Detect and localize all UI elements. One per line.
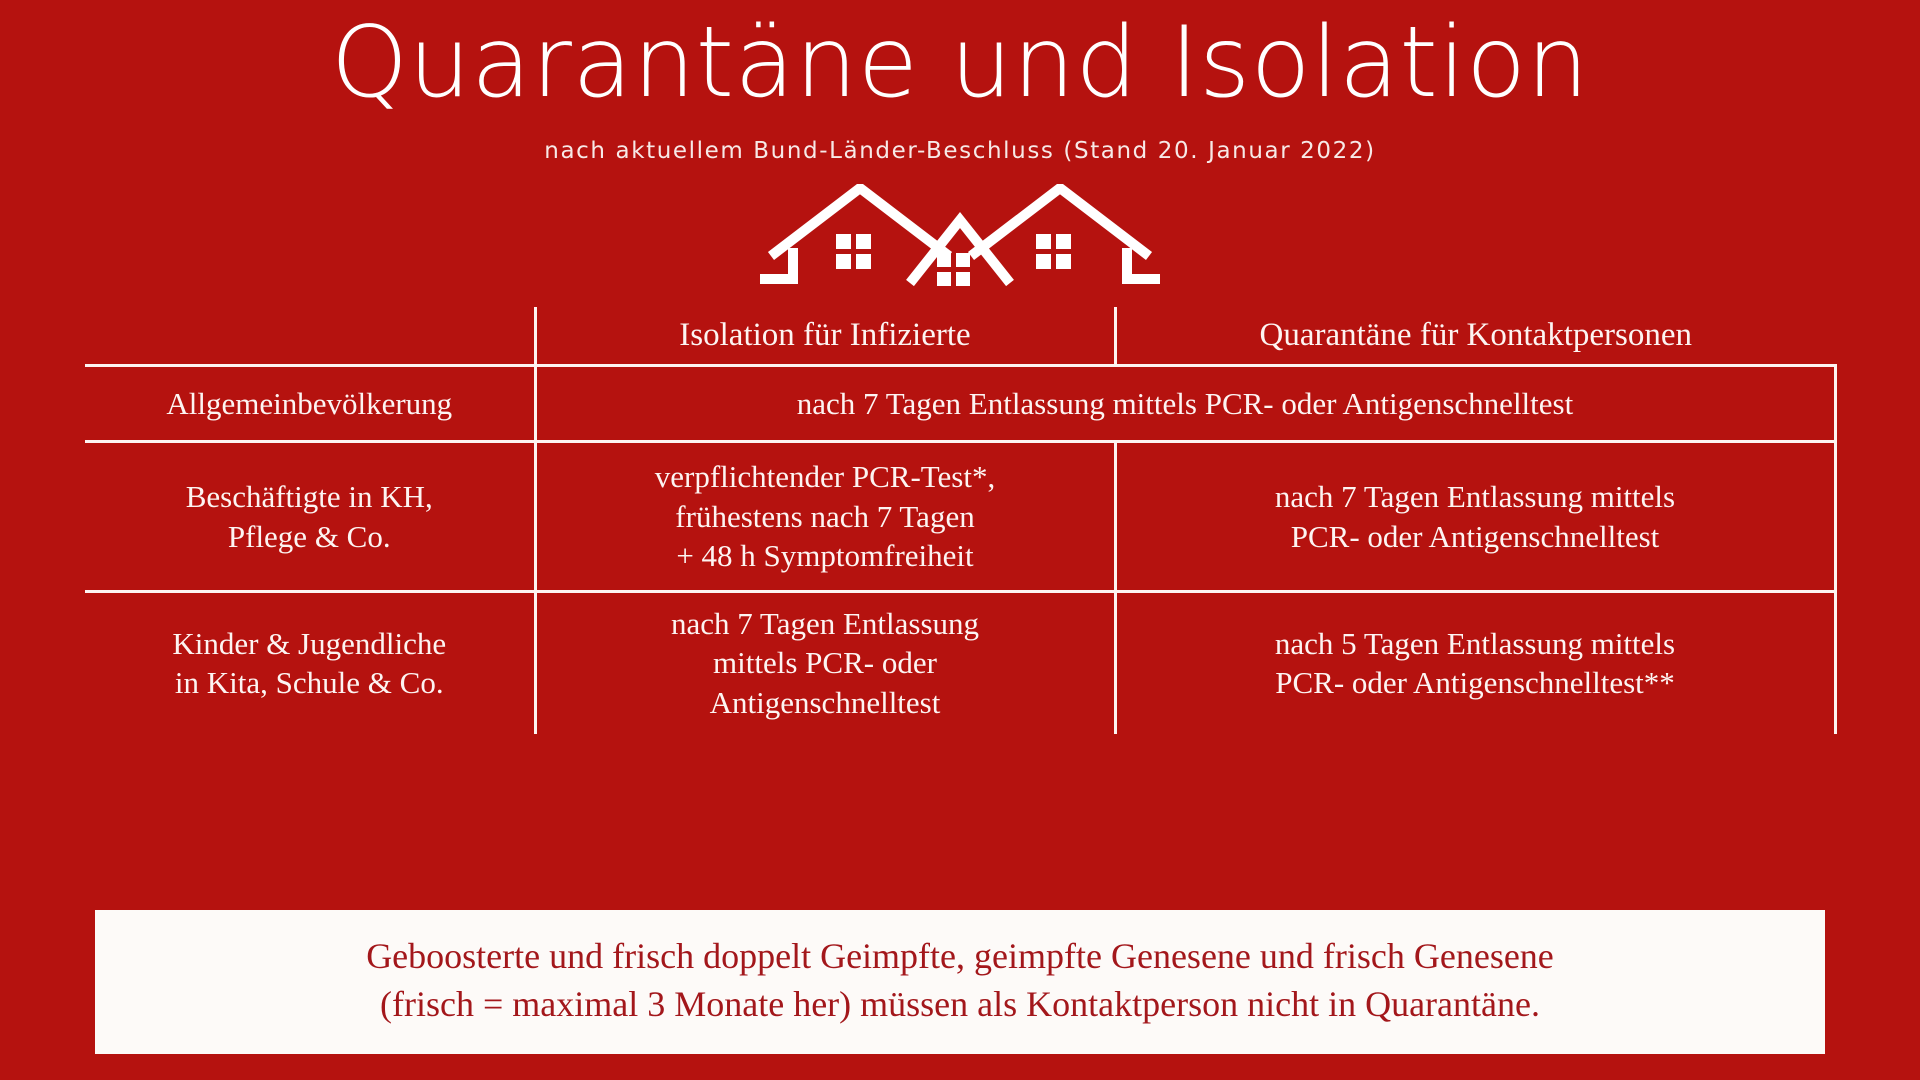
table-row: Allgemeinbevölkerung nach 7 Tagen Entlas…	[85, 366, 1835, 442]
banner-line: Geboosterte und frisch doppelt Geimpfte,…	[125, 932, 1795, 980]
infographic-root: Quarantäne und Isolation nach aktuellem …	[0, 0, 1920, 1080]
cell-general-population-combined: nach 7 Tagen Entlassung mittels PCR- ode…	[535, 366, 1835, 442]
page-title: Quarantäne und Isolation	[0, 0, 1920, 112]
quarantine-table-wrapper: Isolation für Infizierte Quarantäne für …	[85, 307, 1835, 734]
row-label-line: Kinder & Jugendliche	[99, 624, 520, 664]
three-houses-icon	[760, 184, 1160, 289]
cell-line: nach 5 Tagen Entlassung mittels	[1131, 624, 1820, 664]
cell-line: PCR- oder Antigenschnelltest	[1131, 517, 1820, 557]
cell-line: nach 7 Tagen Entlassung mittels	[1131, 477, 1820, 517]
cell-line: verpflichtender PCR-Test*,	[551, 457, 1100, 497]
cell-children-isolation: nach 7 Tagen Entlassung mittels PCR- ode…	[535, 592, 1115, 734]
row-label-line: Pflege & Co.	[99, 517, 520, 557]
banner-line: (frisch = maximal 3 Monate her) müssen a…	[125, 980, 1795, 1028]
row-label-healthcare-workers: Beschäftigte in KH, Pflege & Co.	[85, 442, 535, 592]
cell-line: mittels PCR- oder	[551, 643, 1100, 683]
column-header-quarantine: Quarantäne für Kontaktpersonen	[1115, 307, 1835, 366]
cell-line: frühestens nach 7 Tagen	[551, 497, 1100, 537]
row-label-children-youth: Kinder & Jugendliche in Kita, Schule & C…	[85, 592, 535, 734]
quarantine-table: Isolation für Infizierte Quarantäne für …	[85, 307, 1837, 734]
cell-line: PCR- oder Antigenschnelltest**	[1131, 663, 1820, 703]
table-header-row: Isolation für Infizierte Quarantäne für …	[85, 307, 1835, 366]
exemption-banner: Geboosterte und frisch doppelt Geimpfte,…	[95, 910, 1825, 1054]
cell-healthcare-quarantine: nach 7 Tagen Entlassung mittels PCR- ode…	[1115, 442, 1835, 592]
houses-illustration	[0, 184, 1920, 289]
page-subtitle: nach aktuellem Bund-Länder-Beschluss (St…	[0, 138, 1920, 164]
column-header-isolation: Isolation für Infizierte	[535, 307, 1115, 366]
cell-line: + 48 h Symptomfreiheit	[551, 536, 1100, 576]
row-label-line: Beschäftigte in KH,	[99, 477, 520, 517]
row-label-line: in Kita, Schule & Co.	[99, 663, 520, 703]
table-row: Beschäftigte in KH, Pflege & Co. verpfli…	[85, 442, 1835, 592]
cell-line: Antigenschnelltest	[551, 683, 1100, 723]
cell-line: nach 7 Tagen Entlassung	[551, 604, 1100, 644]
cell-children-quarantine: nach 5 Tagen Entlassung mittels PCR- ode…	[1115, 592, 1835, 734]
cell-healthcare-isolation: verpflichtender PCR-Test*, frühestens na…	[535, 442, 1115, 592]
table-row: Kinder & Jugendliche in Kita, Schule & C…	[85, 592, 1835, 734]
row-label-general-population: Allgemeinbevölkerung	[85, 366, 535, 442]
column-header-blank	[85, 307, 535, 366]
